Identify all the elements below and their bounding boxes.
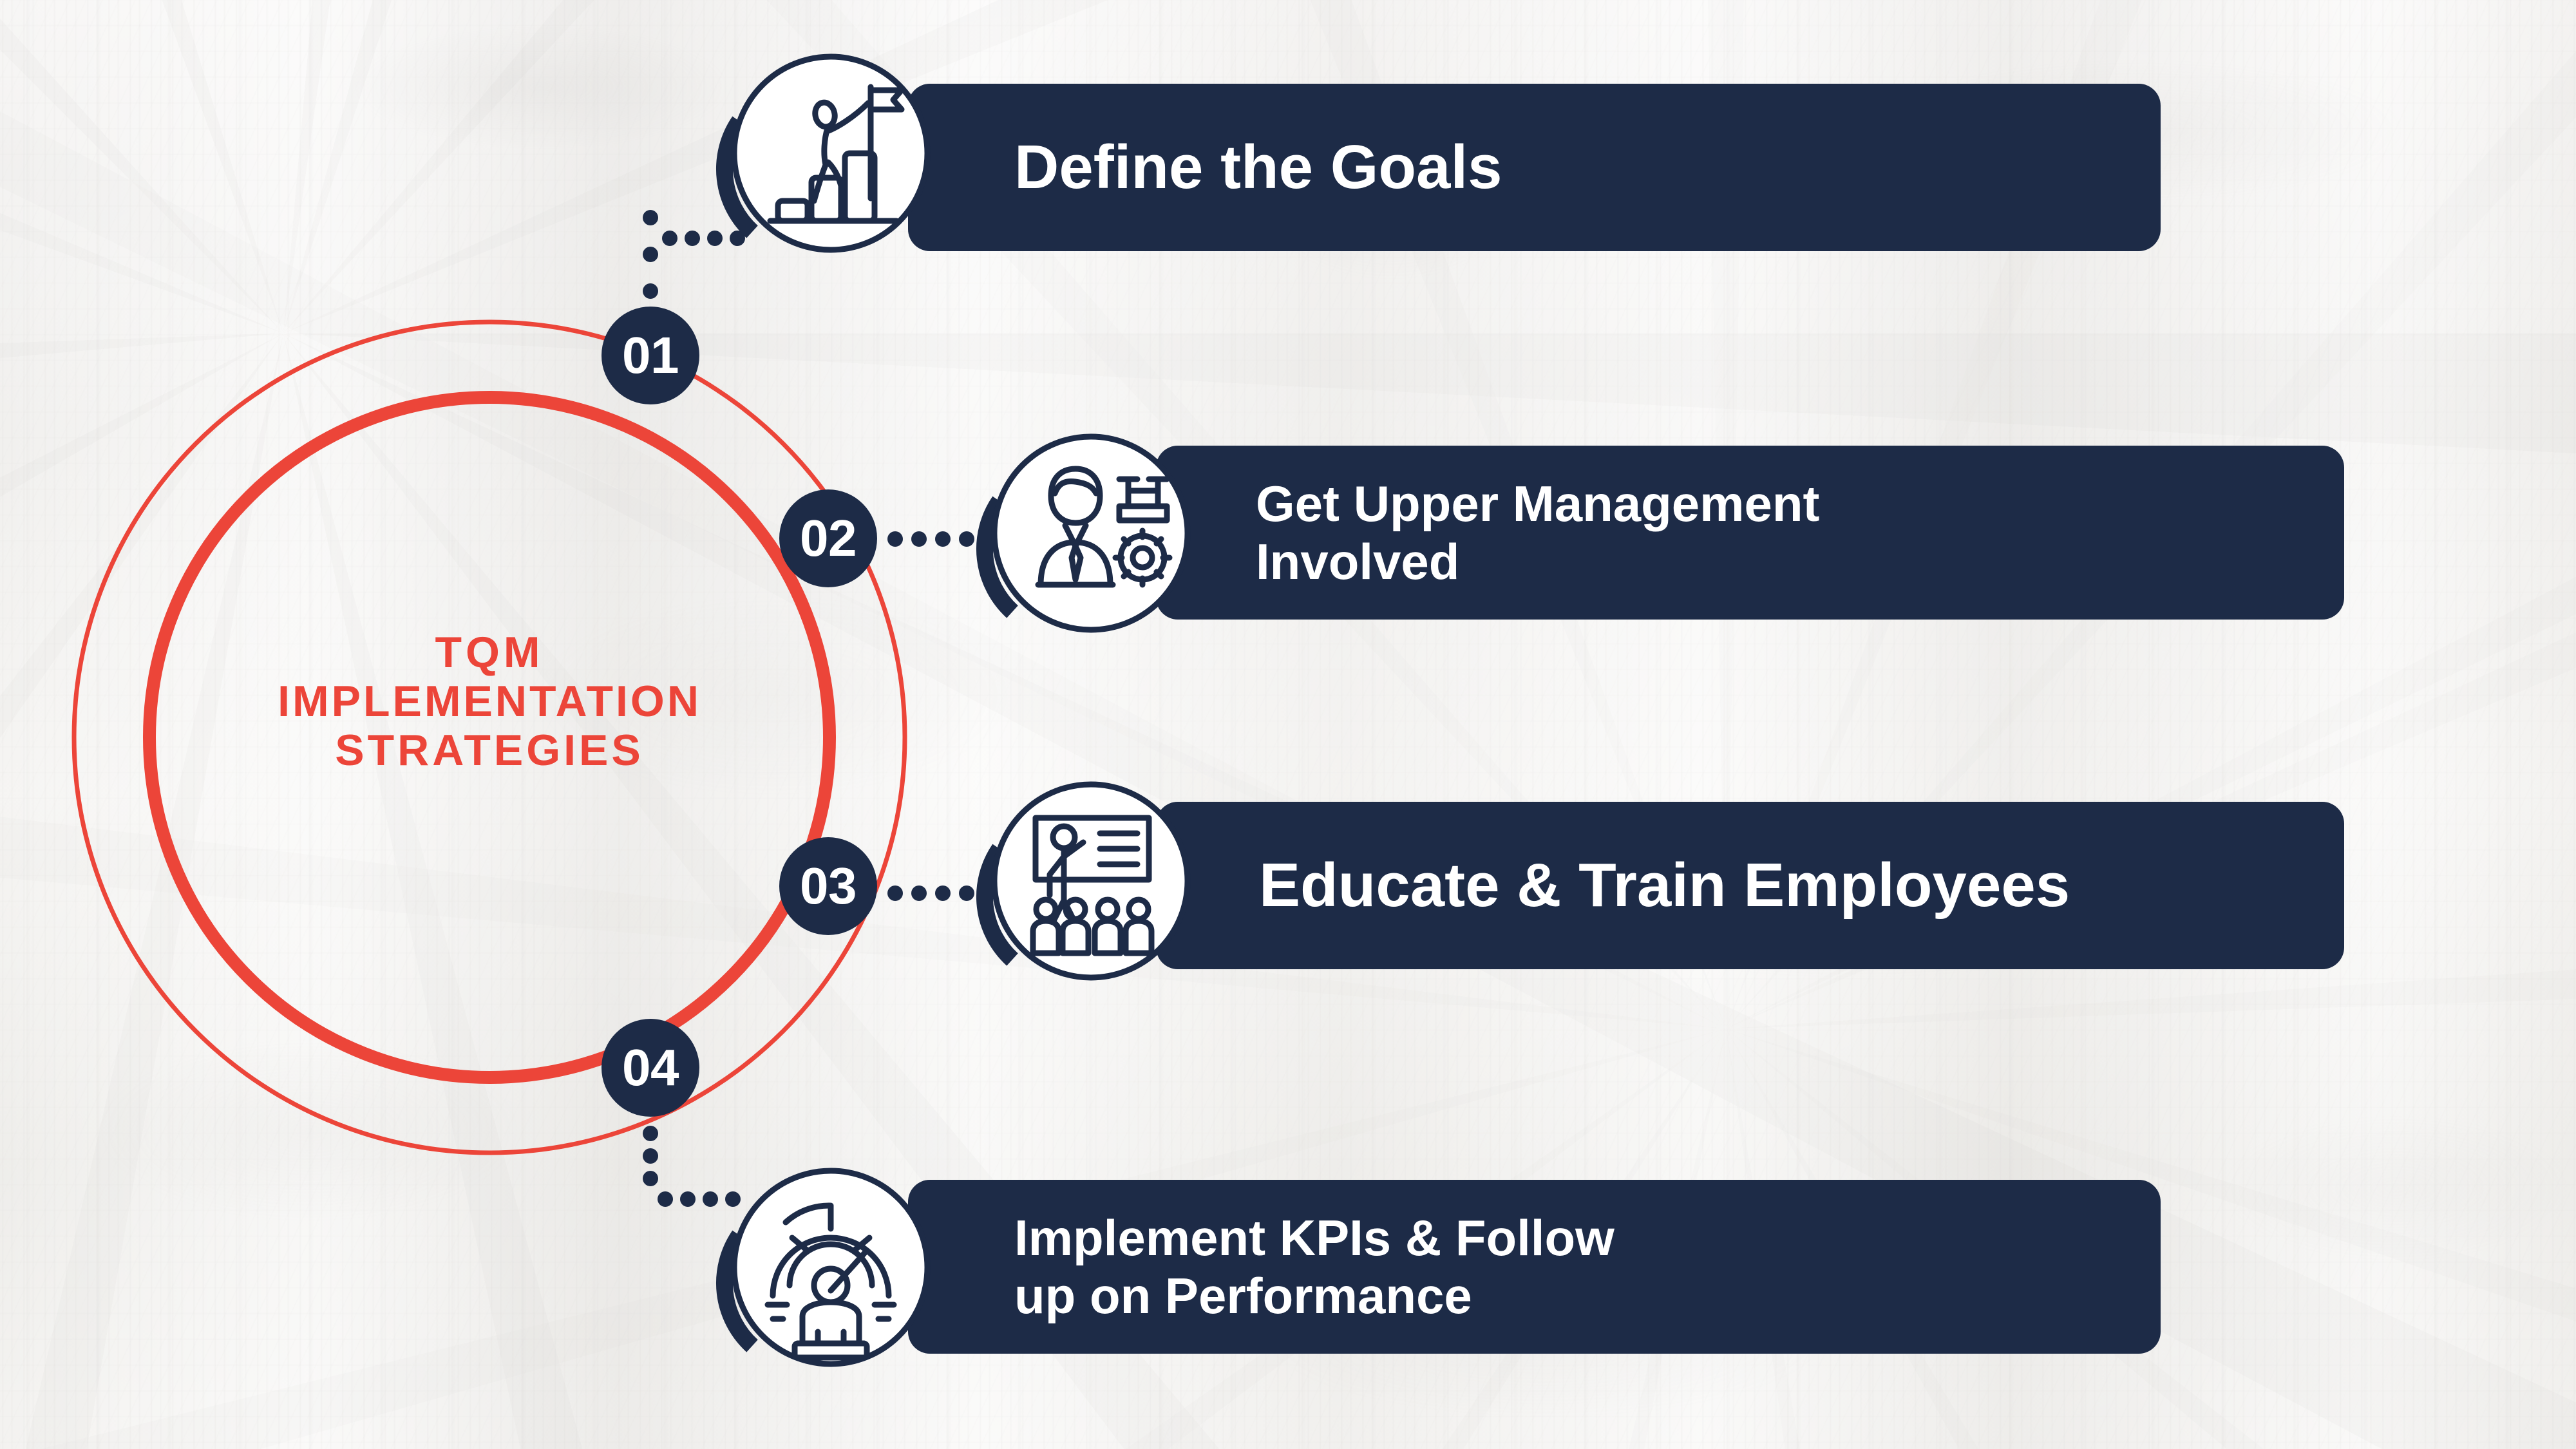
step-badge-01[interactable]: 01 [601, 307, 699, 404]
step-icon-3-wrapper[interactable] [974, 766, 1206, 998]
step-bar-2[interactable]: Get Upper Management Involved [1156, 446, 2344, 620]
connector-dots-02 [887, 531, 974, 547]
center-title-line-3: STRATEGIES [167, 726, 811, 775]
step-label-4: Implement KPIs & Follow up on Performanc… [908, 1209, 1615, 1325]
center-title-line-1: TQM [167, 628, 811, 677]
step-label-3: Educate & Train Employees [1156, 849, 2070, 921]
connector-dots-03 [887, 885, 974, 901]
step-bar-1[interactable]: Define the Goals [908, 84, 2161, 251]
infographic-canvas: TQM IMPLEMENTATION STRATEGIES [0, 0, 2576, 1449]
businessman-with-gear-icon [974, 419, 1206, 650]
step-icon-2-wrapper[interactable] [974, 419, 1206, 650]
step-icon-1-wrapper[interactable] [714, 39, 945, 270]
center-title: TQM IMPLEMENTATION STRATEGIES [167, 628, 811, 775]
step-bar-3[interactable]: Educate & Train Employees [1156, 802, 2344, 969]
speedometer-gauge-person-icon [714, 1153, 945, 1385]
center-title-line-2: IMPLEMENTATION [167, 677, 811, 726]
step-badge-04[interactable]: 04 [601, 1019, 699, 1117]
step-badge-03[interactable]: 03 [779, 837, 877, 935]
step-badge-02[interactable]: 02 [779, 489, 877, 587]
step-label-1: Define the Goals [908, 131, 1502, 203]
presenter-whiteboard-audience-icon [974, 766, 1206, 998]
step-label-2: Get Upper Management Involved [1156, 475, 1819, 591]
person-climbing-bar-chart-with-flag-icon [714, 39, 945, 270]
step-bar-4[interactable]: Implement KPIs & Follow up on Performanc… [908, 1180, 2161, 1354]
step-icon-4-wrapper[interactable] [714, 1153, 945, 1385]
